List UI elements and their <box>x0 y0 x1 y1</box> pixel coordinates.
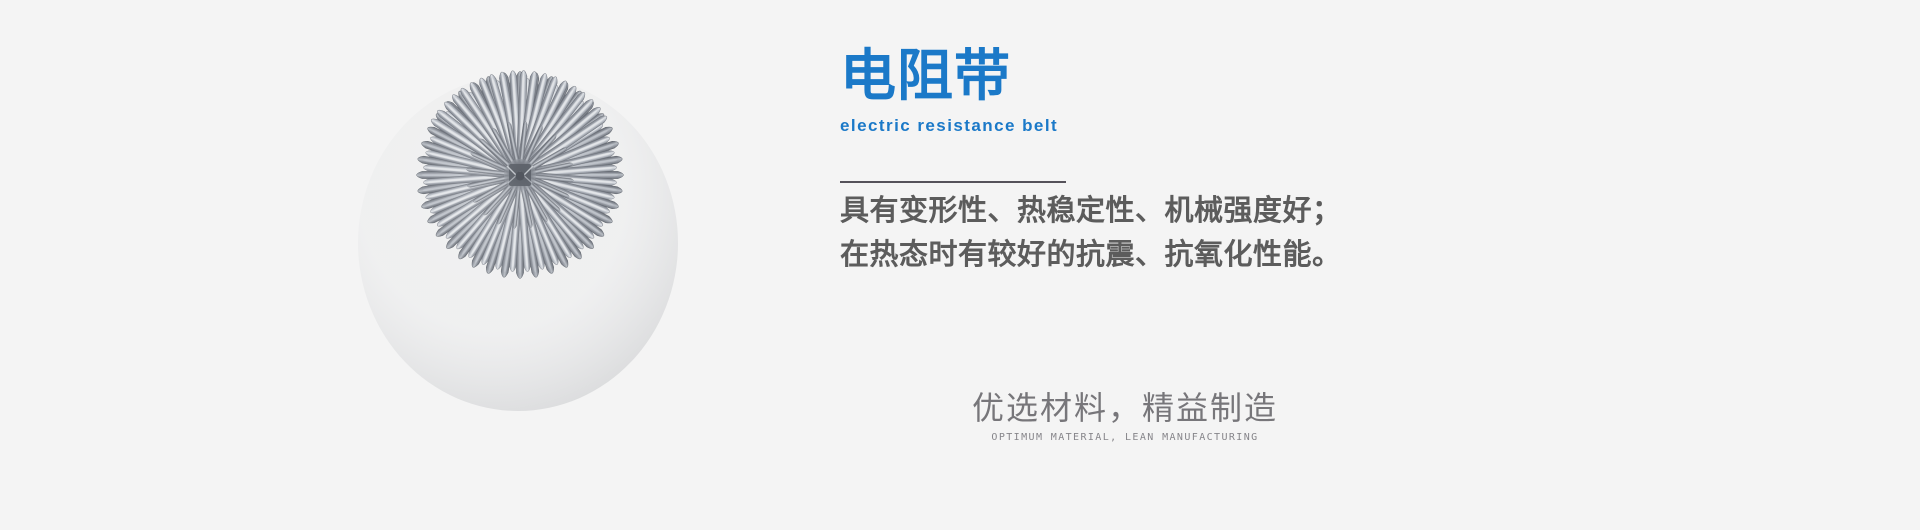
page-title: 电阻带 <box>840 46 1400 106</box>
resistance-belt-coil-photo <box>336 58 696 448</box>
slogan-chinese: 优选材料，精益制造 <box>955 388 1295 428</box>
product-banner: 电阻带 电阻带 electric resistance belt 具有变形性、热… <box>0 0 1920 530</box>
product-image: 电阻带 <box>336 58 696 448</box>
title-divider <box>840 181 1066 183</box>
title-block: 电阻带 electric resistance belt <box>840 46 1400 136</box>
description-line-1: 具有变形性、热稳定性、机械强度好； <box>840 189 1480 233</box>
banner-content: 电阻带 electric resistance belt 具有变形性、热稳定性、… <box>840 0 1740 530</box>
slogan-block: 优选材料，精益制造 OPTIMUM MATERIAL, LEAN MANUFAC… <box>955 388 1295 444</box>
description-block: 具有变形性、热稳定性、机械强度好； 在热态时有较好的抗震、抗氧化性能。 <box>840 189 1480 277</box>
description-line-2: 在热态时有较好的抗震、抗氧化性能。 <box>840 233 1480 277</box>
slogan-english: OPTIMUM MATERIAL, LEAN MANUFACTURING <box>955 431 1295 444</box>
page-subtitle: electric resistance belt <box>840 116 1400 136</box>
